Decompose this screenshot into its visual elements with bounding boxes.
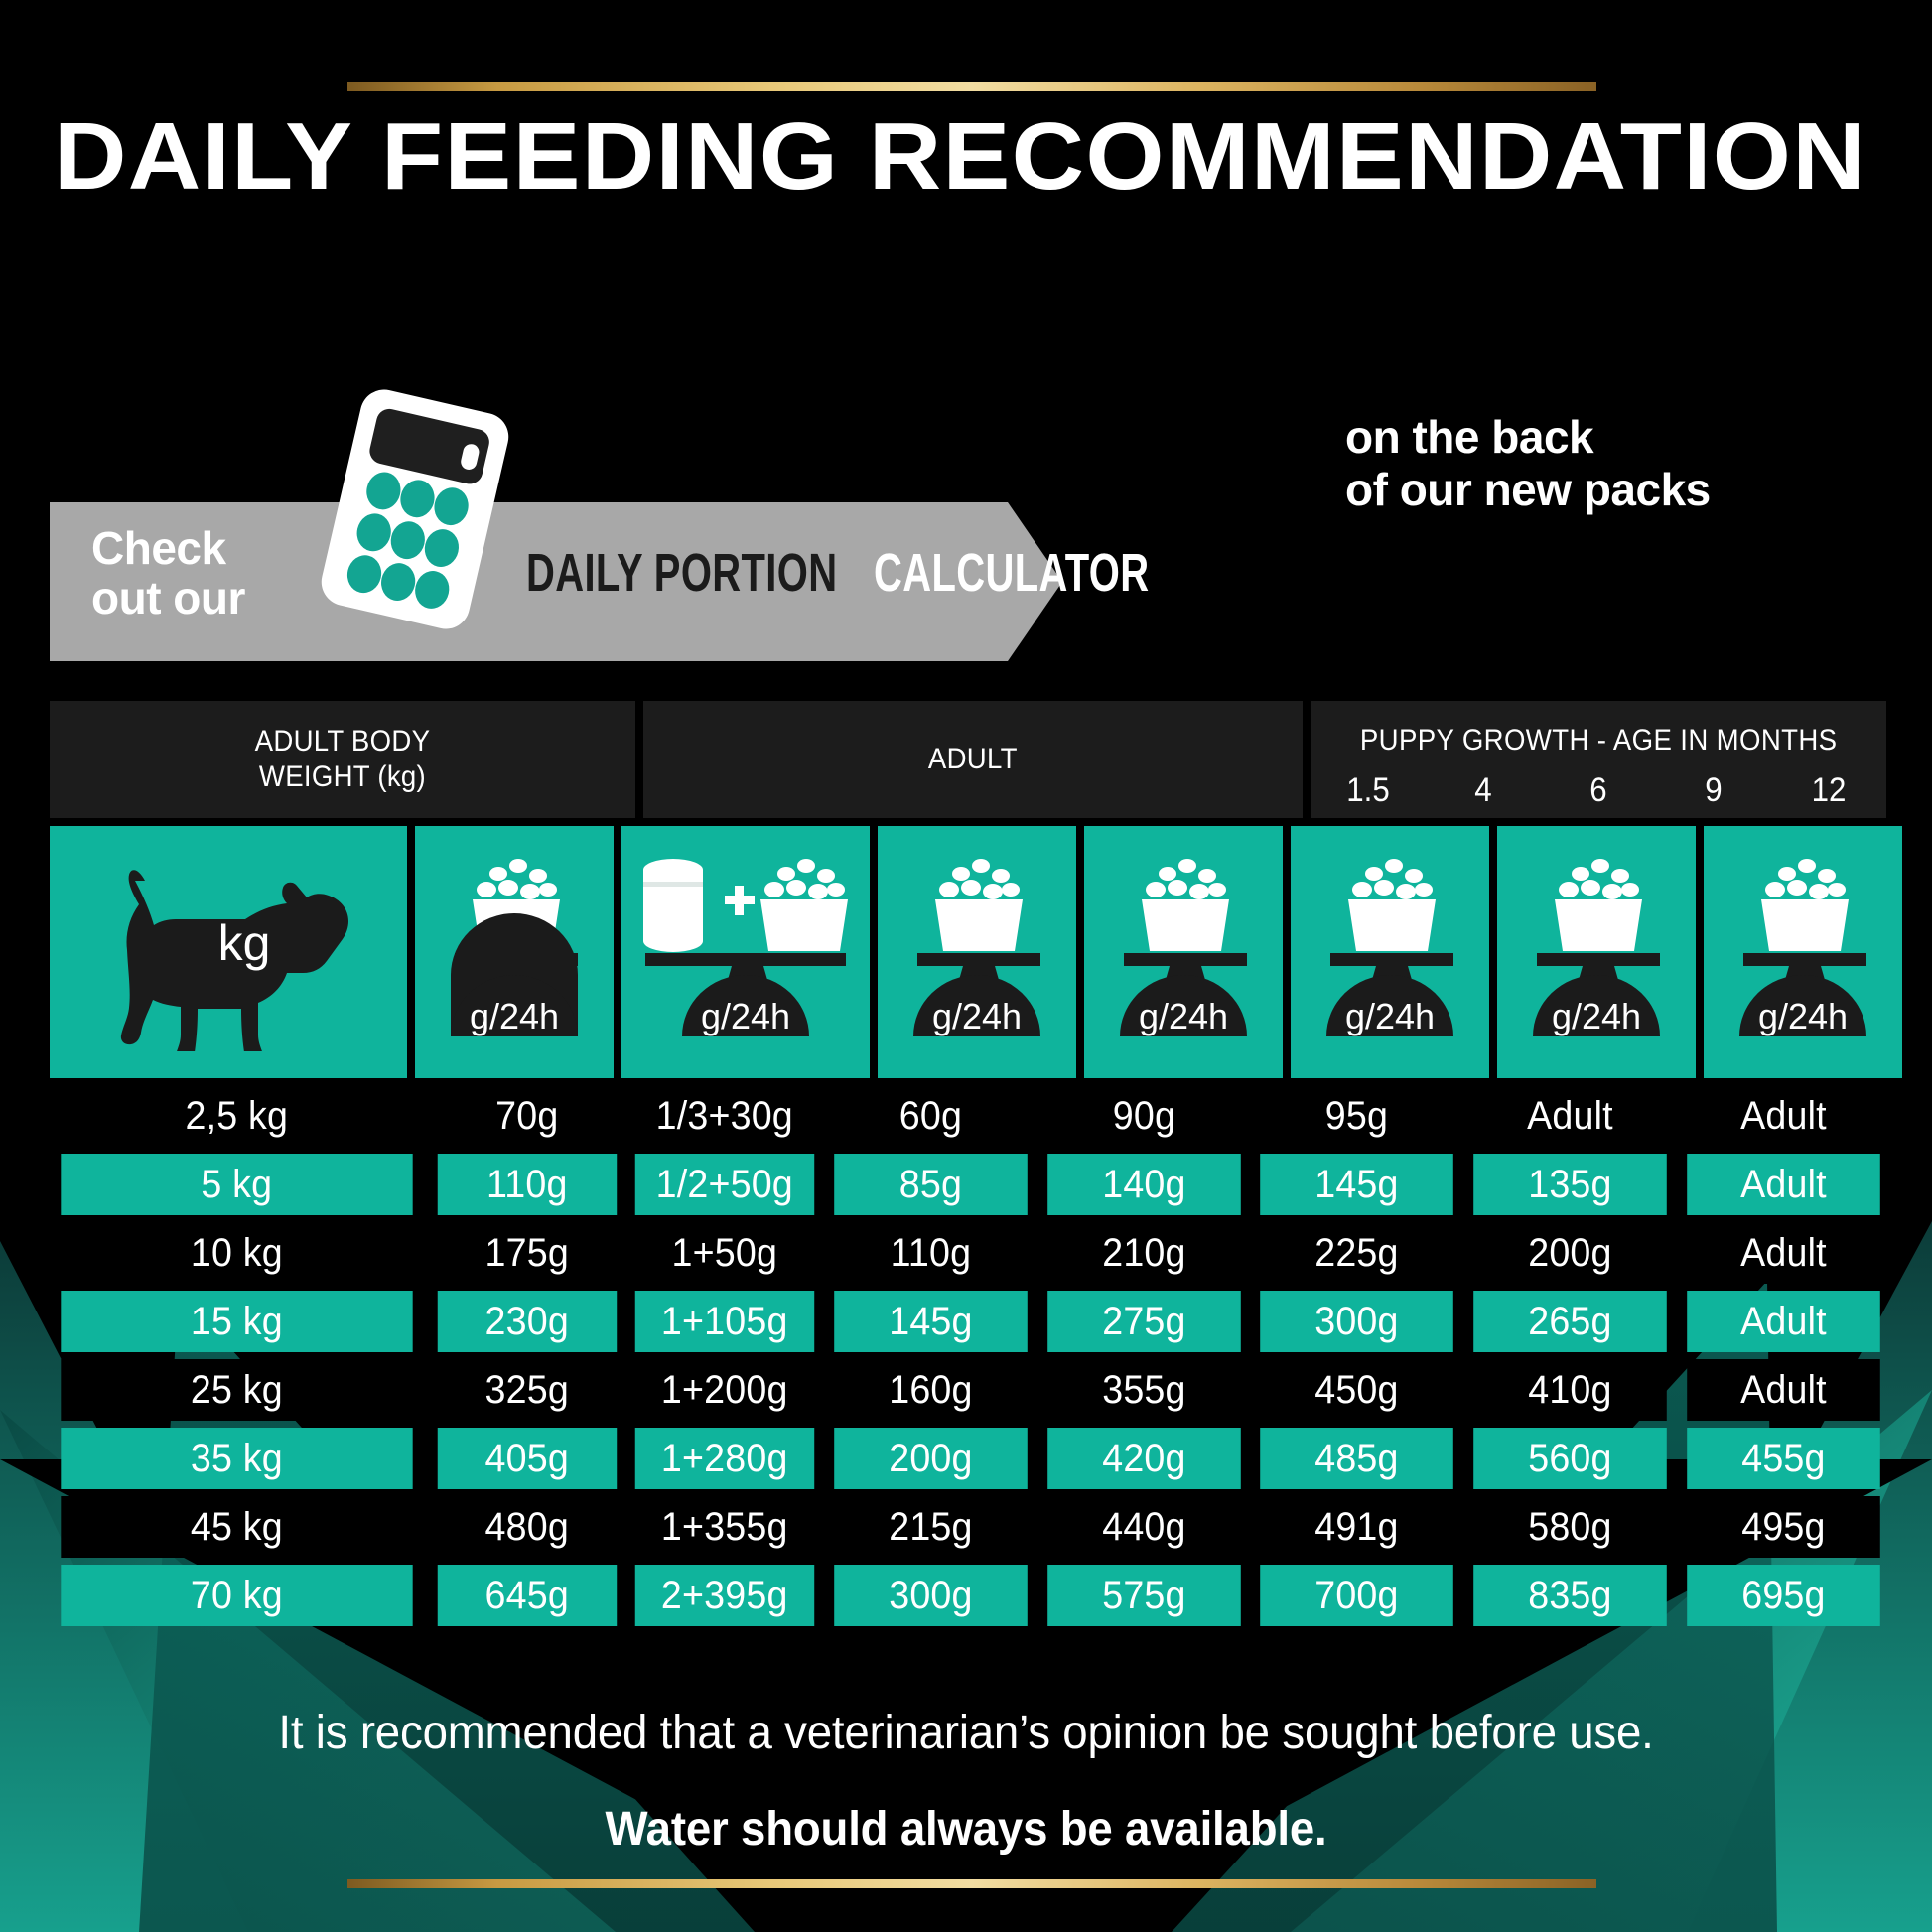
header-adult-body-weight: ADULT BODY WEIGHT (kg) (50, 701, 635, 818)
table-cell: 495g (1687, 1496, 1879, 1558)
table-cell: 480g (437, 1496, 616, 1558)
icon-cell-dog: kg (50, 826, 407, 1078)
icon-cell-puppy-3: g/24h (1291, 826, 1489, 1078)
header-weight-line-2: WEIGHT (kg) (255, 759, 431, 795)
table-cell: 70 kg (61, 1565, 412, 1626)
table-cell: 215g (834, 1496, 1027, 1558)
table-row: 2,5 kg70g1/3+30g60g90g95gAdultAdult (50, 1085, 1886, 1147)
table-row: 45 kg480g1+355g215g440g491g580g495g (50, 1496, 1886, 1558)
table-cell: 90g (1047, 1085, 1240, 1147)
table-cell: 355g (1047, 1359, 1240, 1421)
dog-kg-label: kg (218, 915, 271, 971)
table-cell: 420g (1047, 1428, 1240, 1489)
table-row: 15 kg230g1+105g145g275g300g265gAdult (50, 1291, 1886, 1352)
svg-text:g/24h: g/24h (932, 996, 1022, 1036)
table-cell: Adult (1687, 1291, 1879, 1352)
kibble-bowl-scale-icon: g/24h (1497, 848, 1696, 1056)
table-cell: 410g (1474, 1359, 1667, 1421)
table-cell: Adult (1687, 1154, 1879, 1215)
feeding-recommendation-infographic: DAILY FEEDING RECOMMENDATION Check out o… (0, 0, 1932, 1932)
table-cell: 85g (834, 1154, 1027, 1215)
table-cell: 15 kg (61, 1291, 412, 1352)
footer-line-1: It is recommended that a veterinarian’s … (49, 1706, 1884, 1760)
table-cell: 560g (1474, 1428, 1667, 1489)
header-weight-line-1: ADULT BODY (255, 724, 431, 759)
calculator-label: CALCULATOR (874, 542, 1149, 604)
icon-cell-adult-dry: g/24h (415, 826, 614, 1078)
table-cell: 160g (834, 1359, 1027, 1421)
table-cell: 1+50g (635, 1222, 814, 1284)
svg-text:g/24h: g/24h (1345, 996, 1435, 1036)
header-age-4: 9 (1661, 771, 1767, 810)
icon-cell-puppy-1: g/24h (878, 826, 1076, 1078)
kibble-bowl-scale-icon: g/24h (1291, 848, 1489, 1056)
table-cell: 440g (1047, 1496, 1240, 1558)
daily-portion-label: DAILY PORTION (526, 542, 837, 604)
table-cell: 450g (1261, 1359, 1453, 1421)
table-cell: 485g (1261, 1428, 1453, 1489)
table-cell: 230g (437, 1291, 616, 1352)
header-adult-label: ADULT (928, 742, 1018, 777)
table-cell: 325g (437, 1359, 616, 1421)
promo-banner: Check out our DAILY PORTION CALCULATOR o… (0, 502, 1932, 661)
table-cell: 1+105g (635, 1291, 814, 1352)
table-header-row: ADULT BODY WEIGHT (kg) ADULT PUPPY GROWT… (50, 701, 1886, 818)
check-out-our-text: Check out our (91, 524, 349, 622)
header-age-3: 6 (1546, 771, 1652, 810)
table-cell: 145g (834, 1291, 1027, 1352)
table-cell: 700g (1261, 1565, 1453, 1626)
footer-line-2: Water should always be available. (49, 1802, 1884, 1857)
table-cell: 200g (1474, 1222, 1667, 1284)
table-cell: 60g (834, 1085, 1027, 1147)
table-cell: 210g (1047, 1222, 1240, 1284)
table-cell: Adult (1687, 1359, 1879, 1421)
table-cell: 145g (1261, 1154, 1453, 1215)
table-row: 5 kg110g1/2+50g85g140g145g135gAdult (50, 1154, 1886, 1215)
table-cell: 2,5 kg (61, 1085, 412, 1147)
table-cell: 1/3+30g (635, 1085, 814, 1147)
feeding-table: ADULT BODY WEIGHT (kg) ADULT PUPPY GROWT… (50, 701, 1886, 1626)
unit-label-1: g/24h (470, 996, 559, 1036)
table-cell: 645g (437, 1565, 616, 1626)
unit-label-2: g/24h (701, 996, 790, 1036)
table-icon-row: kg g/24h (50, 826, 1886, 1078)
table-cell: 491g (1261, 1496, 1453, 1558)
header-age-2: 4 (1431, 771, 1537, 810)
table-cell: 140g (1047, 1154, 1240, 1215)
table-cell: 455g (1687, 1428, 1879, 1489)
svg-text:g/24h: g/24h (1552, 996, 1641, 1036)
table-cell: 225g (1261, 1222, 1453, 1284)
check-line-2: out our (91, 574, 349, 623)
header-age-1: 1.5 (1315, 771, 1422, 810)
table-cell: 110g (834, 1222, 1027, 1284)
onback-line-1: on the back (1345, 411, 1901, 464)
header-puppy-growth: PUPPY GROWTH - AGE IN MONTHS 1.5 4 6 9 1… (1311, 701, 1886, 818)
header-age-list: 1.5 4 6 9 12 (1311, 771, 1886, 810)
check-line-1: Check (91, 524, 349, 574)
table-cell: 25 kg (61, 1359, 412, 1421)
table-cell: 175g (437, 1222, 616, 1284)
kibble-bowl-scale-icon: g/24h (878, 848, 1076, 1056)
icon-cell-puppy-5: g/24h (1704, 826, 1902, 1078)
plus-sign (725, 886, 755, 915)
table-cell: 695g (1687, 1565, 1879, 1626)
icon-cell-adult-wet-dry: g/24h (621, 826, 870, 1078)
svg-text:g/24h: g/24h (1139, 996, 1228, 1036)
table-body: 2,5 kg70g1/3+30g60g90g95gAdultAdult5 kg1… (50, 1085, 1886, 1626)
footer-note: It is recommended that a veterinarian’s … (0, 1706, 1932, 1857)
table-cell: 45 kg (61, 1496, 412, 1558)
gold-divider-top (347, 82, 1596, 91)
kibble-bowl-scale-icon: g/24h (1704, 848, 1902, 1056)
on-the-back-text: on the back of our new packs (1345, 411, 1901, 517)
table-cell: 1+280g (635, 1428, 814, 1489)
table-cell: 70g (437, 1085, 616, 1147)
table-cell: 575g (1047, 1565, 1240, 1626)
table-row: 70 kg645g2+395g300g575g700g835g695g (50, 1565, 1886, 1626)
icon-cell-puppy-2: g/24h (1084, 826, 1283, 1078)
table-cell: 110g (437, 1154, 616, 1215)
table-row: 25 kg325g1+200g160g355g450g410gAdult (50, 1359, 1886, 1421)
table-cell: 300g (1261, 1291, 1453, 1352)
table-cell: 1+200g (635, 1359, 814, 1421)
table-cell: 2+395g (635, 1565, 814, 1626)
can-plus-kibble-bowl-scale-icon: g/24h (621, 848, 870, 1056)
svg-text:g/24h: g/24h (1758, 996, 1848, 1036)
table-cell: 835g (1474, 1565, 1667, 1626)
table-cell: 200g (834, 1428, 1027, 1489)
table-cell: Adult (1687, 1222, 1879, 1284)
kibble-bowl-scale-icon: g/24h (1084, 848, 1283, 1056)
kibble-bowl-scale-icon: g/24h (415, 848, 614, 1056)
header-age-5: 12 (1776, 771, 1882, 810)
table-cell: 135g (1474, 1154, 1667, 1215)
table-cell: 300g (834, 1565, 1027, 1626)
table-cell: 95g (1261, 1085, 1453, 1147)
table-cell: 1/2+50g (635, 1154, 814, 1215)
dog-silhouette-icon: kg (50, 853, 407, 1051)
table-cell: 10 kg (61, 1222, 412, 1284)
table-cell: 405g (437, 1428, 616, 1489)
header-puppy-label: PUPPY GROWTH - AGE IN MONTHS (1360, 724, 1838, 758)
table-cell: 265g (1474, 1291, 1667, 1352)
table-cell: Adult (1474, 1085, 1667, 1147)
table-cell: 5 kg (61, 1154, 412, 1215)
table-cell: 580g (1474, 1496, 1667, 1558)
onback-line-2: of our new packs (1345, 464, 1901, 516)
table-cell: 275g (1047, 1291, 1240, 1352)
table-cell: 1+355g (635, 1496, 814, 1558)
table-cell: Adult (1687, 1085, 1879, 1147)
icon-cell-puppy-4: g/24h (1497, 826, 1696, 1078)
gold-divider-bottom (347, 1879, 1596, 1888)
table-row: 10 kg175g1+50g110g210g225g200gAdult (50, 1222, 1886, 1284)
page-title: DAILY FEEDING RECOMMENDATION (54, 105, 1866, 208)
table-row: 35 kg405g1+280g200g420g485g560g455g (50, 1428, 1886, 1489)
header-adult: ADULT (643, 701, 1303, 818)
table-cell: 35 kg (61, 1428, 412, 1489)
